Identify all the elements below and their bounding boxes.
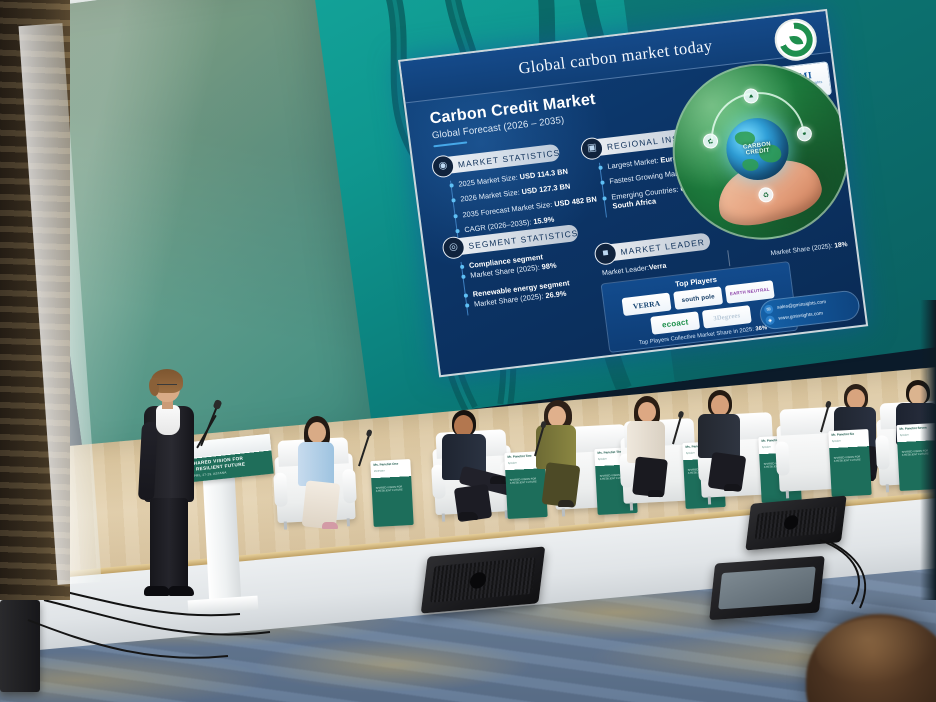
right-dark-edge bbox=[920, 300, 936, 600]
contact-website: www.gminsights.com bbox=[778, 311, 823, 321]
slide-banner-title: Global carbon market today bbox=[517, 35, 713, 78]
panel-name-plaque: Ms. Panelist One Moderator SHARED VISION… bbox=[370, 459, 413, 527]
speaker-eyeglasses bbox=[157, 384, 177, 389]
plaque-event: SHARED VISION FORA RESILIENT FUTURE bbox=[510, 477, 537, 485]
plaque-role: Moderator bbox=[374, 469, 408, 474]
3degrees-logo: 3Degrees bbox=[702, 305, 752, 329]
panel-name-plaque: Mr. Panelist Six Speaker SHARED VISION F… bbox=[828, 429, 871, 497]
led-presentation-screen: Global carbon market today GMI Global Ma… bbox=[398, 9, 868, 377]
globe-small-icon: ◈ bbox=[765, 315, 775, 325]
panelist bbox=[696, 392, 752, 488]
envelope-icon: ✉ bbox=[764, 304, 774, 314]
hand-holding-globe-graphic: CARBON CREDIT ▲ ✿ ● ♻ bbox=[662, 54, 859, 249]
plaque-name: Ms. Panelist One bbox=[373, 462, 407, 468]
conference-stage-photo: Global carbon market today GMI Global Ma… bbox=[0, 0, 936, 702]
ecoact-logo: ecoact bbox=[650, 311, 700, 335]
panelist bbox=[440, 412, 504, 512]
plaque-event: SHARED VISION FORA RESILIENT FUTURE bbox=[376, 485, 403, 493]
panelist bbox=[294, 418, 346, 528]
plaque-name: Mr. Panelist Six bbox=[831, 432, 865, 438]
verra-logo: VERRA bbox=[622, 293, 672, 317]
panelist bbox=[534, 402, 590, 502]
green-circular-emblem-icon bbox=[772, 16, 819, 63]
plaque-role: Speaker bbox=[832, 439, 866, 444]
market-leader-share: Market Share (2025): 18% bbox=[770, 241, 848, 257]
panelist bbox=[624, 398, 676, 494]
speaker-scarf bbox=[156, 405, 180, 435]
southpole-logo: south pole bbox=[673, 286, 723, 310]
plaque-event: SHARED VISION FORA RESILIENT FUTURE bbox=[834, 455, 861, 463]
